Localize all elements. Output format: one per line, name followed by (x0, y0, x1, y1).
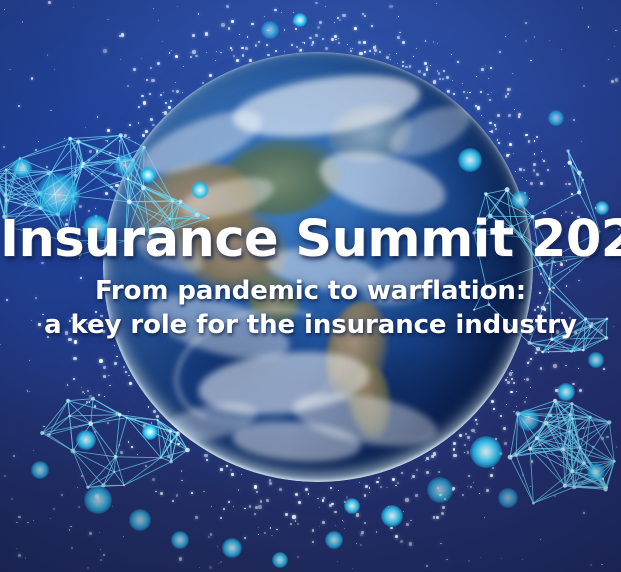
page-title: Insurance Summit 2022 (0, 214, 621, 266)
headline-block: Insurance Summit 2022 From pandemic to w… (0, 214, 621, 341)
poster-canvas: Insurance Summit 2022 From pandemic to w… (0, 0, 621, 572)
subtitle: From pandemic to warflation: a key role … (0, 276, 621, 341)
subtitle-line-2: a key role for the insurance industry (0, 310, 621, 342)
subtitle-line-1: From pandemic to warflation: (0, 276, 621, 308)
